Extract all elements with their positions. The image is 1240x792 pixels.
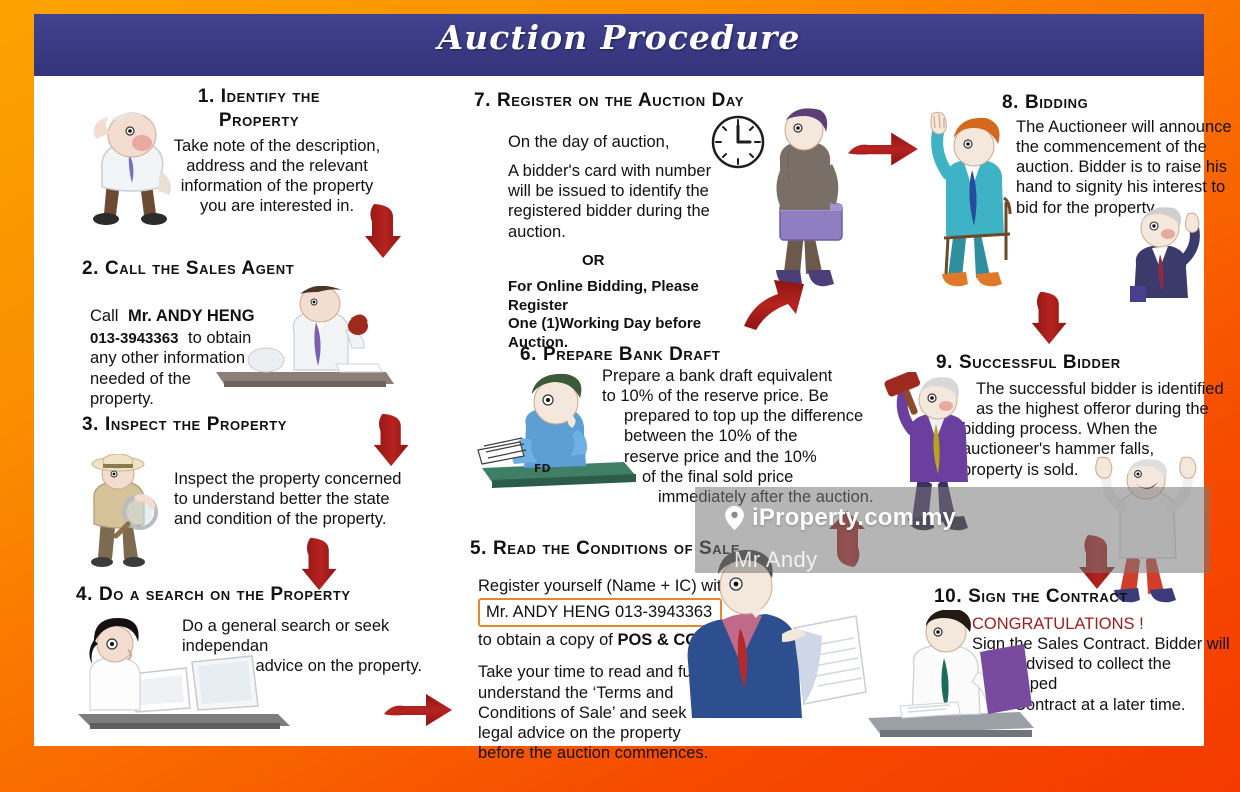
step-9-line-2: as the highest offeror during the	[962, 399, 1227, 419]
arrow-step3	[372, 412, 418, 468]
watermark-agent-text: Mr Andy	[734, 547, 818, 573]
step-9: 9. Successful Bidder	[936, 352, 1236, 374]
step-6: 6. Prepare Bank Draft	[520, 344, 860, 366]
arrow-step4-to-step5	[382, 686, 456, 730]
title-banner: Auction Procedure	[34, 14, 1204, 76]
step-1-title: Identify the	[221, 86, 320, 107]
step-8-title: Bidding	[1025, 92, 1088, 113]
bidder-raising-hand-illustration	[918, 110, 1033, 295]
second-bidder-illustration	[1106, 194, 1201, 304]
step-6-line-3: prepared to top up the difference	[602, 406, 902, 426]
step-3-number: 3.	[82, 414, 99, 435]
svg-text:FD: FD	[534, 462, 551, 475]
arrow-step8-to-step9	[1030, 290, 1076, 346]
step-4: 4. Do a search on the Property	[76, 584, 476, 606]
step-6-heading: 6. Prepare Bank Draft	[520, 344, 860, 366]
step-6-line-2: to 10% of the reserve price. Be	[602, 386, 902, 406]
step-2-title: Call the Sales Agent	[105, 258, 294, 279]
step-7-number: 7.	[474, 90, 491, 111]
arrow-step6-to-step7	[740, 266, 810, 332]
step-7-title: Register on the Auction Day	[497, 90, 744, 111]
step-5-line-4: legal advice on the property	[478, 723, 746, 743]
agent-at-desk-illustration	[206, 286, 396, 396]
step-3-line-2: to understand better the state	[174, 489, 434, 509]
step-7-online-line-1: For Online Bidding, Please Register	[508, 278, 758, 316]
step-7-line-3: registered bidder during the	[508, 201, 758, 221]
step-10-number: 10.	[934, 586, 962, 607]
step-9-number: 9.	[936, 352, 953, 373]
signing-contract-illustration	[854, 610, 1044, 750]
step-8-line-2: the commencement of the	[1016, 137, 1240, 157]
step-9-line-1: The successful bidder is identified	[962, 379, 1227, 399]
poster-root: Auction Procedure 1. Identify the Proper…	[0, 0, 1240, 792]
step-9-title: Successful Bidder	[959, 352, 1121, 373]
step-2-heading: 2. Call the Sales Agent	[82, 258, 422, 280]
page-title: Auction Procedure	[34, 18, 1204, 57]
step-1-number: 1.	[198, 86, 215, 107]
step-4-number: 4.	[76, 584, 93, 605]
step-9-heading: 9. Successful Bidder	[936, 352, 1236, 374]
step-2-number: 2.	[82, 258, 99, 279]
step-2-agent-phone: 013-3943363	[90, 330, 178, 347]
inspector-illustration	[72, 454, 177, 569]
step-4-heading: 4. Do a search on the Property	[76, 584, 476, 606]
step-6-title: Prepare Bank Draft	[543, 344, 721, 365]
step-3-heading: 3. Inspect the Property	[82, 414, 402, 436]
step-6-number: 6.	[520, 344, 537, 365]
step-5-line-5: before the auction commences.	[478, 743, 746, 763]
arrow-step7-to-step8	[846, 124, 922, 170]
step-7-line-4: auction.	[508, 222, 758, 242]
step-10-heading: 10. Sign the Contract	[934, 586, 1234, 608]
step-7-line-2: will be issued to identify the	[508, 181, 758, 201]
step-10: 10. Sign the Contract	[934, 586, 1234, 608]
step-3-title: Inspect the Property	[105, 414, 287, 435]
woman-at-computer-illustration	[72, 610, 302, 735]
step-4-title: Do a search on the Property	[99, 584, 351, 605]
step-3-line-3: and condition of the property.	[174, 509, 434, 529]
step-1-heading: 1. Identify the	[94, 86, 424, 108]
step-6-line-1: Prepare a bank draft equivalent	[602, 366, 902, 386]
step-6-line-4: between the 10% of the	[602, 426, 902, 446]
step-8-line-3: auction. Bidder is to raise his	[1016, 157, 1240, 177]
step-9-line-3: bidding process. When the	[962, 419, 1227, 439]
step-5-number: 5.	[470, 538, 487, 559]
poster-page: Auction Procedure 1. Identify the Proper…	[34, 14, 1204, 746]
step-6-line-6: of the final sold price	[602, 467, 902, 487]
step-8-heading: 8. Bidding	[1002, 92, 1240, 114]
step-5-copy-prefix: to obtain a copy of	[478, 631, 617, 649]
step-7-divider: OR	[582, 252, 758, 270]
watermark-brand-row: iProperty.com.my	[724, 504, 956, 532]
step-2: 2. Call the Sales Agent	[82, 258, 422, 280]
arrow-step1-to-step2	[364, 202, 410, 260]
step-6-body: Prepare a bank draft equivalent to 10% o…	[602, 366, 902, 507]
worried-man-illustration	[74, 109, 184, 244]
step-3: 3. Inspect the Property	[82, 414, 402, 436]
step-8: 8. Bidding	[1002, 92, 1240, 114]
step-3-line-1: Inspect the property concerned	[174, 469, 434, 489]
location-pin-icon	[724, 505, 745, 531]
step-2-call-prefix: Call	[90, 307, 118, 325]
step-3-body: Inspect the property concerned to unders…	[174, 469, 434, 529]
step-10-title: Sign the Contract	[968, 586, 1128, 607]
watermark-brand-text: iProperty.com.my	[752, 504, 956, 532]
step-6-line-5: reserve price and the 10%	[602, 447, 902, 467]
step-8-line-1: The Auctioneer will announce	[1016, 117, 1240, 137]
thinking-man-illustration: FD	[474, 372, 644, 497]
